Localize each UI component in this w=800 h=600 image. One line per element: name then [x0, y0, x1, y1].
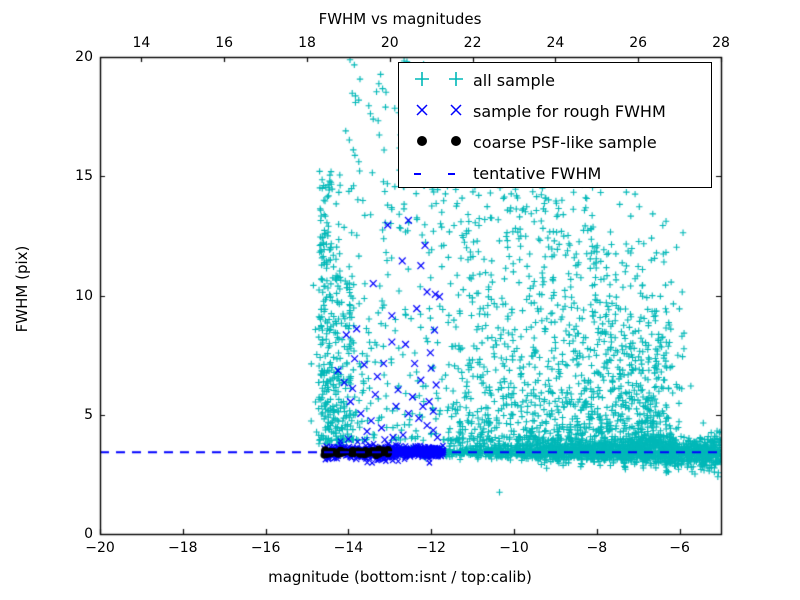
y-tick: 15 — [75, 168, 93, 184]
legend-marker-rough-fwhm — [399, 102, 473, 121]
x-tick-bottom: −16 — [251, 540, 281, 556]
x-tick-top: 22 — [464, 35, 482, 51]
x-tick-bottom: −12 — [416, 540, 446, 556]
legend-label-coarse-psf: coarse PSF-like sample — [473, 133, 657, 152]
cross-icon — [449, 102, 463, 121]
dashed-line-icon — [447, 164, 465, 183]
y-tick: 5 — [84, 407, 93, 423]
legend-marker-coarse-psf — [399, 133, 473, 152]
x-tick-top: 28 — [712, 35, 730, 51]
x-tick-top: 20 — [381, 35, 399, 51]
x-tick-bottom: −18 — [168, 540, 198, 556]
legend-label-tentative-fwhm: tentative FWHM — [473, 164, 601, 183]
x-tick-top: 18 — [298, 35, 316, 51]
x-tick-bottom: −14 — [334, 540, 364, 556]
chart-title: FWHM vs magnitudes — [0, 10, 800, 28]
legend-marker-all-sample — [399, 71, 473, 91]
legend-label-rough-fwhm: sample for rough FWHM — [473, 102, 666, 121]
legend-entry-all-sample: all sample — [399, 65, 711, 96]
dashed-line-icon — [413, 164, 431, 183]
cross-icon — [415, 102, 429, 121]
x-tick-bottom: −8 — [586, 540, 607, 556]
x-tick-top: 26 — [629, 35, 647, 51]
y-axis-label: FWHM (pix) — [13, 209, 31, 369]
plus-icon — [414, 71, 430, 91]
x-tick-top: 16 — [215, 35, 233, 51]
x-axis-label: magnitude (bottom:isnt / top:calib) — [0, 568, 800, 586]
x-tick-top: 24 — [546, 35, 564, 51]
y-tick: 20 — [75, 49, 93, 65]
x-tick-bottom: −10 — [499, 540, 529, 556]
x-tick-bottom: −6 — [669, 540, 690, 556]
legend-entry-coarse-psf: coarse PSF-like sample — [399, 127, 711, 158]
legend-entry-rough-fwhm: sample for rough FWHM — [399, 96, 711, 127]
legend-label-all-sample: all sample — [473, 71, 555, 90]
x-tick-bottom: −20 — [85, 540, 115, 556]
y-tick: 10 — [75, 288, 93, 304]
plus-icon — [448, 71, 464, 91]
figure-canvas: FWHM vs magnitudes magnitude (bottom:isn… — [0, 0, 800, 600]
chart-legend: all sample sample for rough FWHM — [398, 62, 712, 188]
x-tick-top: 14 — [132, 35, 150, 51]
circle-icon — [415, 133, 429, 152]
legend-marker-tentative-fwhm — [399, 164, 473, 183]
legend-entry-tentative-fwhm: tentative FWHM — [399, 158, 711, 189]
circle-icon — [449, 133, 463, 152]
y-tick: 0 — [84, 526, 93, 542]
